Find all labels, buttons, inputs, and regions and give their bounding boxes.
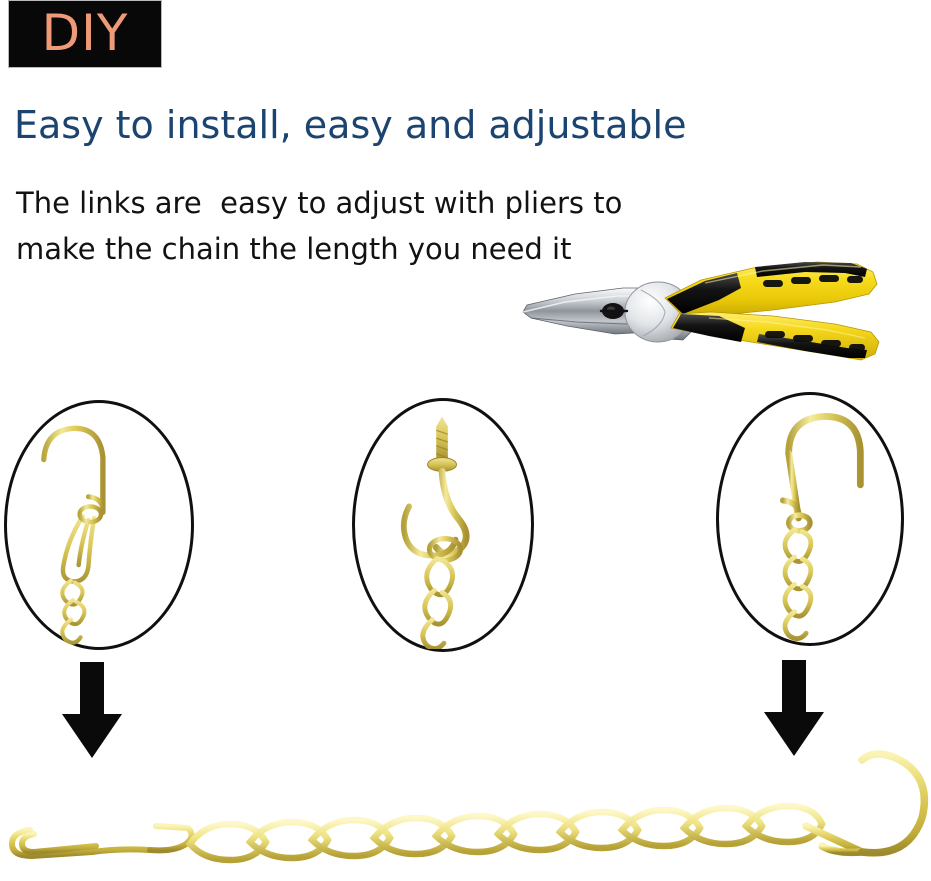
detail-oval-3 (716, 392, 904, 646)
screw-shank (436, 417, 448, 460)
diy-badge: DIY (8, 0, 162, 68)
diy-badge-label: DIY (42, 8, 129, 58)
detail-oval-2 (352, 398, 534, 652)
detail-oval-1 (4, 400, 194, 650)
brass-chain-assembly-image (0, 742, 931, 877)
body-line-1: The links are easy to adjust with pliers… (16, 180, 622, 226)
chain-links (190, 806, 822, 860)
pliers-illustration (505, 250, 925, 375)
s-hook-with-clasp-and-chain-illustration (7, 403, 191, 647)
screw-in-cup-hook-with-chain-illustration (355, 401, 531, 649)
s-hook-with-chain-links-illustration (719, 395, 901, 643)
headline: Easy to install, easy and adjustable (14, 103, 686, 147)
s-hook-right (806, 754, 924, 853)
pliers-upper-handle (665, 262, 877, 316)
brass-chain-illustration (0, 742, 931, 877)
safety-pin-clasp (12, 826, 192, 856)
needle-nose-pliers-image (505, 250, 925, 375)
pliers-lower-handle (671, 312, 879, 360)
